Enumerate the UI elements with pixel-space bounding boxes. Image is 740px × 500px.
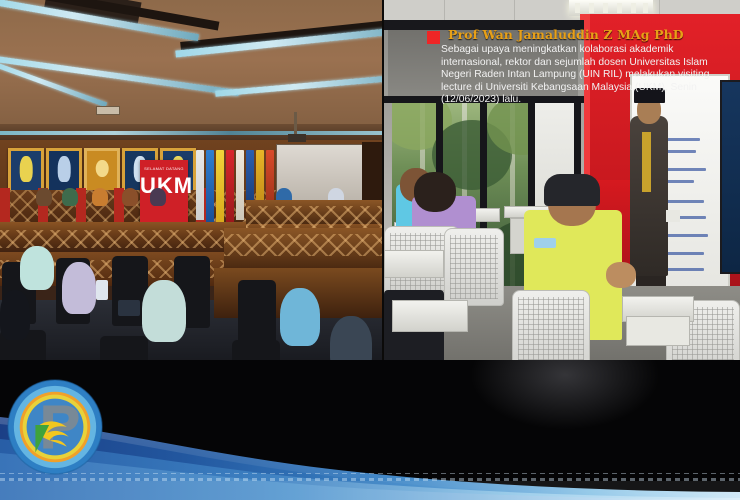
head-table-person [150, 188, 166, 206]
attendee-hijab [20, 246, 54, 290]
attendee-hijab [280, 288, 320, 346]
wall-light-strip [0, 131, 382, 135]
flag [236, 150, 244, 220]
flag [196, 150, 204, 220]
red-square-marker [427, 31, 440, 44]
ceiling-light-cove [0, 54, 239, 96]
tablet-arm-desk [384, 250, 444, 278]
flag [216, 150, 224, 224]
dot-strip [0, 473, 740, 481]
caption-title: Prof Wan Jamaluddin Z MAg PhD [448, 28, 727, 42]
black-cap [544, 174, 600, 206]
banner-subtext: SELAMAT DATANG [140, 166, 188, 171]
flag [206, 150, 214, 222]
tablet-arm-desk [626, 316, 690, 346]
tablet-device [118, 300, 140, 316]
caption-body: Sebagai upaya meningkatkan kolaborasi ak… [441, 44, 727, 107]
head-table-person [122, 188, 138, 206]
stage-pillar [0, 188, 10, 226]
flag [226, 150, 234, 222]
head-table-person [92, 188, 108, 206]
head-table-person [62, 188, 78, 206]
wall-display-monitor [720, 80, 740, 274]
projector [288, 134, 306, 142]
attendee-hijab [62, 262, 96, 314]
smartphone [96, 280, 108, 300]
lecturer-tie [642, 132, 651, 192]
photo-divider [382, 0, 384, 375]
student-head [414, 172, 456, 212]
ceiling-light-cove [215, 73, 382, 96]
hall-desk-row [246, 200, 382, 224]
head-table-person [36, 188, 52, 206]
news-card-canvas: SELAMAT DATANG UKM [0, 0, 740, 500]
caption-block: Prof Wan Jamaluddin Z MAg PhD Sebagai up… [427, 28, 727, 107]
blue-wave-footer [0, 395, 740, 500]
meeting-hall-photo: SELAMAT DATANG UKM [0, 0, 382, 375]
attendee [0, 290, 30, 340]
attendee-hijab [142, 280, 186, 342]
tablet-arm-desk [392, 300, 468, 332]
shirt-badge [534, 238, 556, 248]
hall-desk-row [224, 228, 382, 268]
wall-socket [666, 210, 680, 222]
student-hand [606, 262, 636, 288]
ceiling-vent [96, 106, 120, 115]
classroom-chair [444, 228, 504, 306]
publisher-logo[interactable] [6, 378, 104, 476]
